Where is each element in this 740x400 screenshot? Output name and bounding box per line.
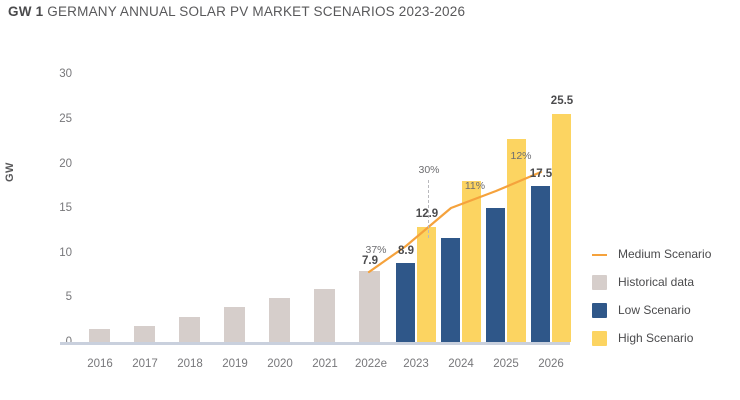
x-axis-baseline xyxy=(60,342,570,345)
y-axis-tick: 15 xyxy=(42,202,72,214)
y-axis-title: GW xyxy=(4,162,16,182)
bar-low-2026 xyxy=(531,186,550,342)
legend-item-low-scenario[interactable]: Low Scenario xyxy=(592,296,738,324)
data-label-2022e: 7.9 xyxy=(349,255,391,267)
annotation-pct-2024: 30% xyxy=(410,164,448,176)
bar-historical-2021 xyxy=(314,289,335,342)
annotation-pct-2025: 11% xyxy=(456,180,494,192)
chart-legend: Medium Scenario Historical data Low Scen… xyxy=(592,240,738,352)
x-axis-tick-2026: 2026 xyxy=(525,358,577,370)
bar-high-2026 xyxy=(552,114,571,342)
y-axis-tick: 20 xyxy=(42,158,72,170)
legend-swatch-icon-historical xyxy=(592,275,607,290)
bar-historical-2022e xyxy=(359,271,380,342)
bar-historical-2020 xyxy=(269,298,290,342)
y-axis-tick: 30 xyxy=(42,68,72,80)
data-label-high-2023: 12.9 xyxy=(404,208,450,220)
legend-label-medium-scenario: Medium Scenario xyxy=(618,247,711,261)
legend-item-medium-scenario[interactable]: Medium Scenario xyxy=(592,240,738,268)
bar-low-2025 xyxy=(486,208,505,342)
bar-low-2023 xyxy=(396,263,415,342)
y-axis-tick: 10 xyxy=(42,247,72,259)
bar-high-2024 xyxy=(462,181,481,342)
y-axis-tick: 25 xyxy=(42,113,72,125)
bar-low-2024 xyxy=(441,238,460,342)
legend-label-high-scenario: High Scenario xyxy=(618,331,693,345)
legend-label-low-scenario: Low Scenario xyxy=(618,303,691,317)
bar-historical-2016 xyxy=(89,329,110,342)
legend-line-icon xyxy=(592,247,607,262)
annotation-pct-2023: 37% xyxy=(357,244,395,256)
bar-historical-2017 xyxy=(134,326,155,342)
bar-historical-2018 xyxy=(179,317,200,342)
data-label-high-2026: 25.5 xyxy=(539,95,585,107)
legend-swatch-icon-low xyxy=(592,303,607,318)
data-label-low-2026: 17.5 xyxy=(521,168,561,180)
legend-item-historical-data[interactable]: Historical data xyxy=(592,268,738,296)
y-axis-tick: 5 xyxy=(42,291,72,303)
annotation-pct-2026: 12% xyxy=(502,150,540,162)
bar-historical-2019 xyxy=(224,307,245,342)
legend-label-historical-data: Historical data xyxy=(618,275,694,289)
legend-swatch-icon-high xyxy=(592,331,607,346)
legend-item-high-scenario[interactable]: High Scenario xyxy=(592,324,738,352)
